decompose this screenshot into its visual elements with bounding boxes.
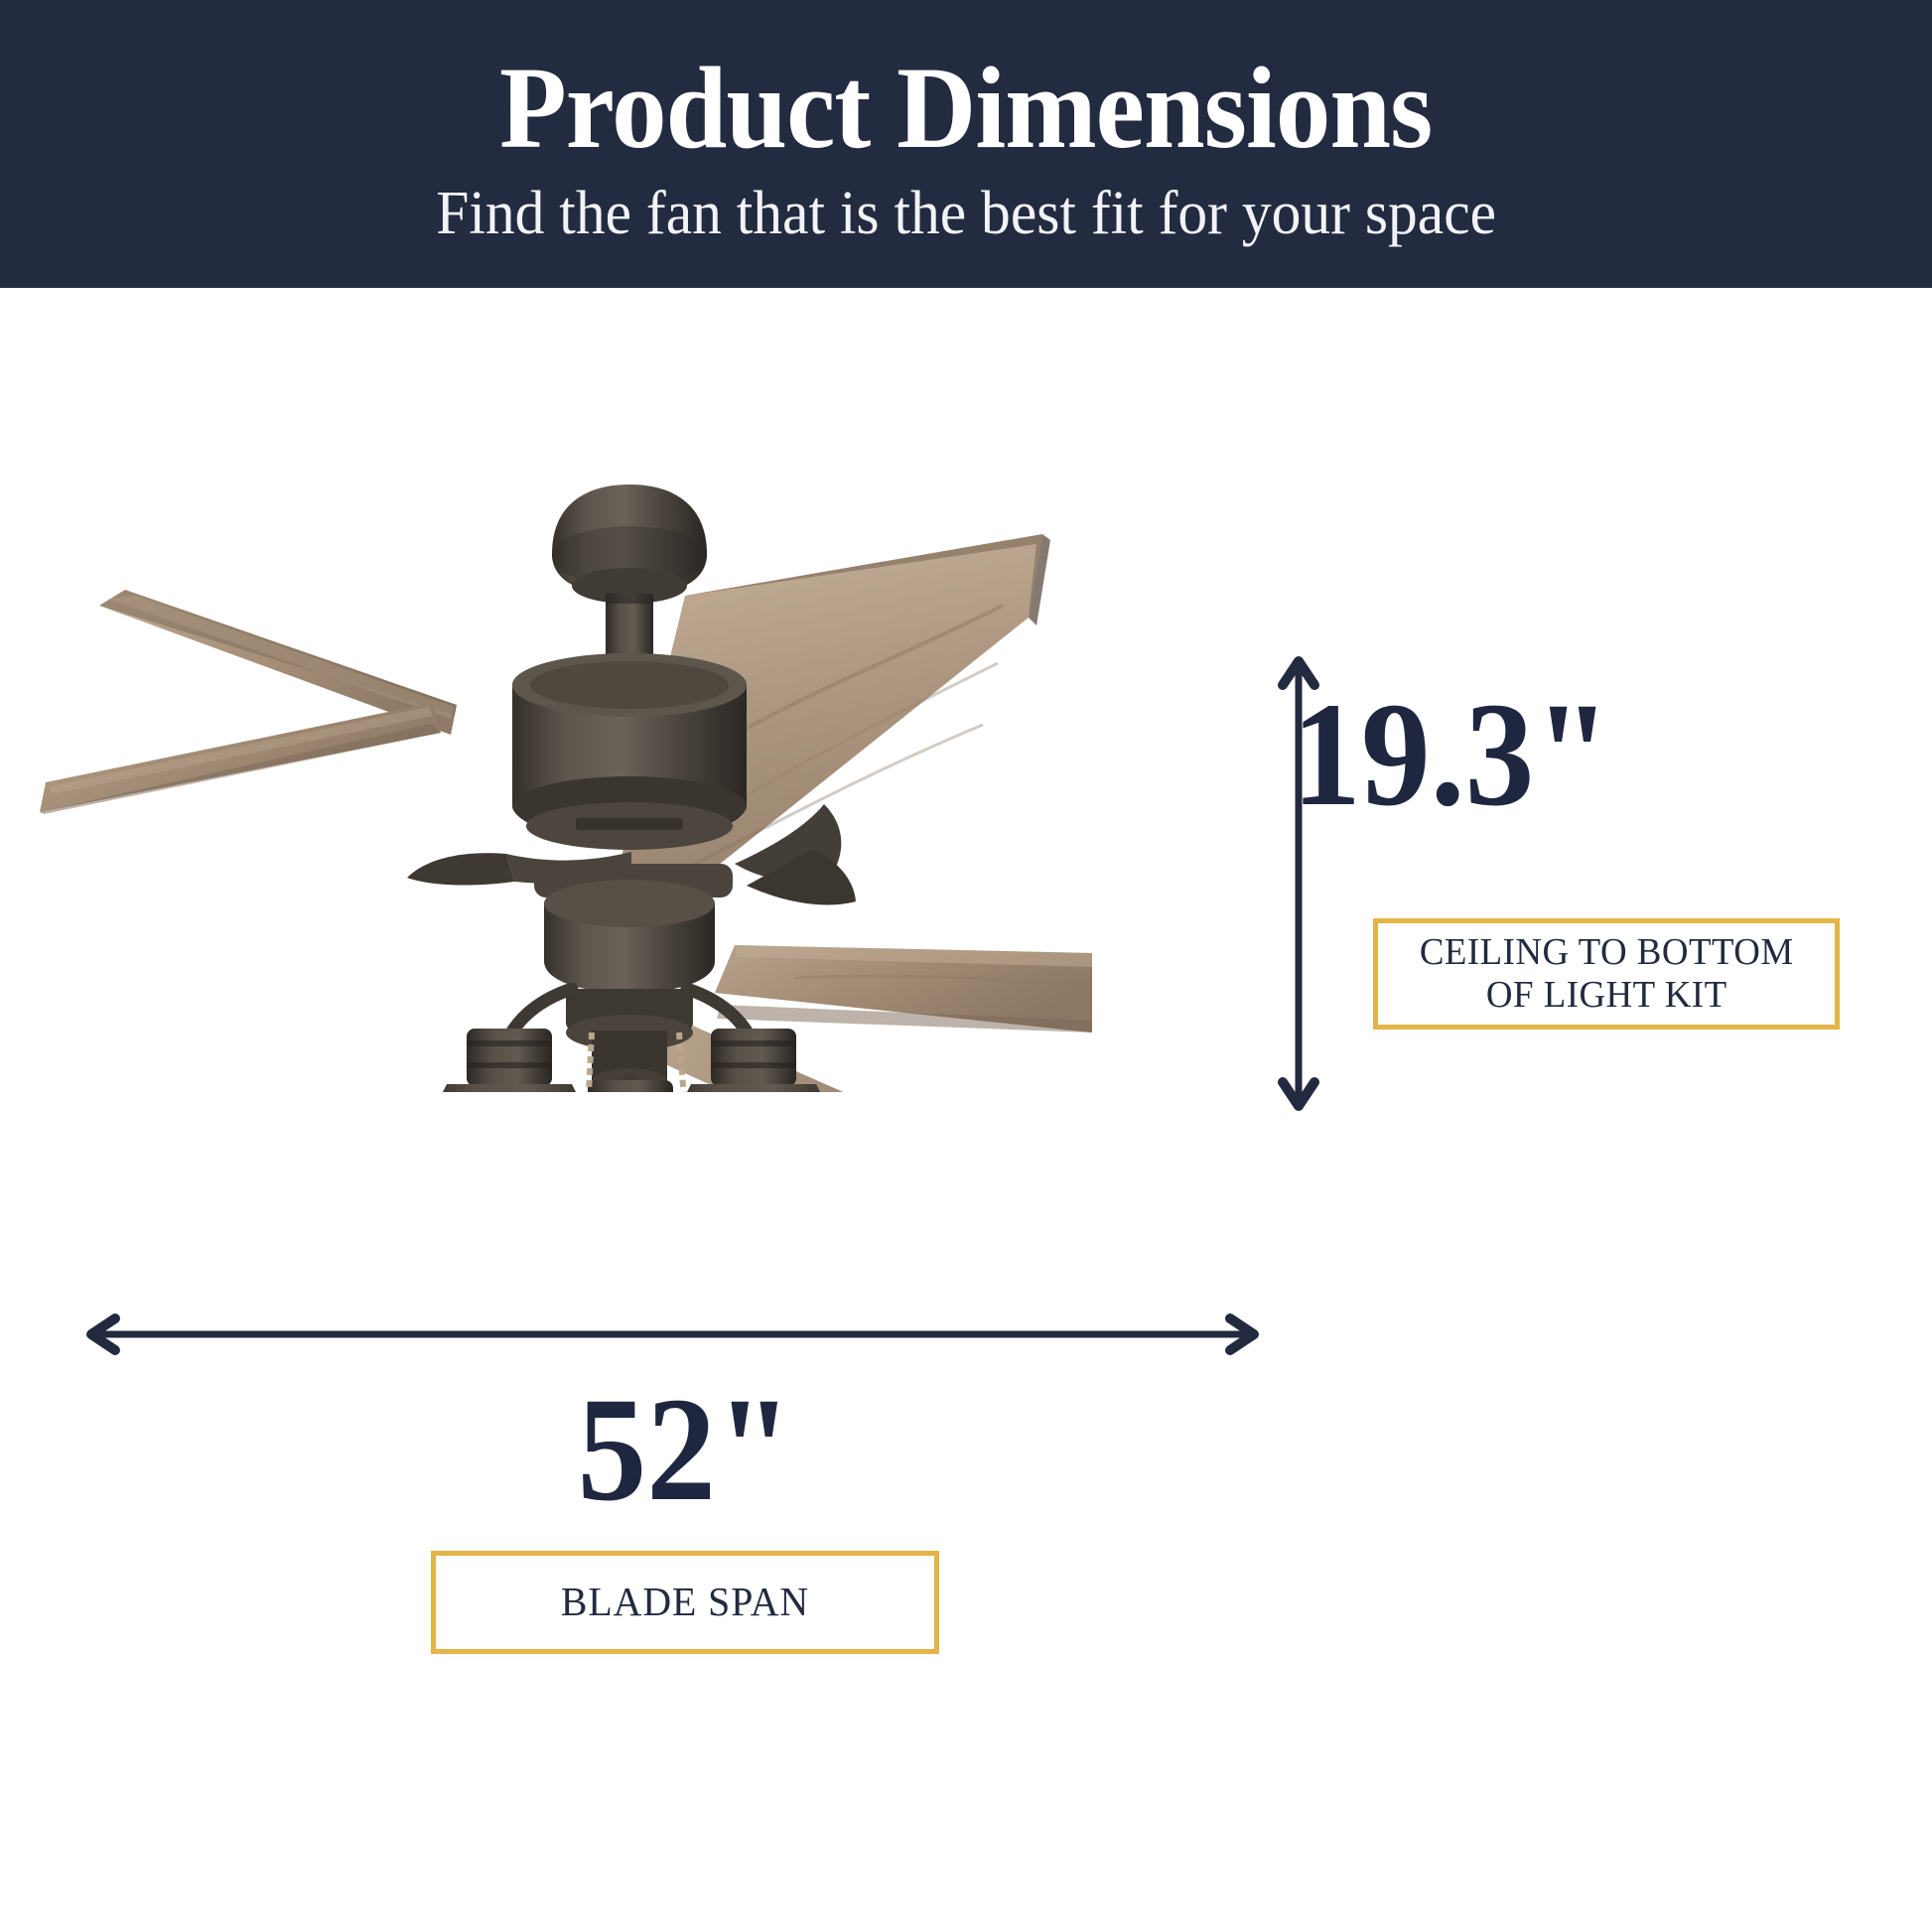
height-caption-box: CEILING TO BOTTOM OF LIGHT KIT xyxy=(1373,918,1840,1030)
width-dimension-value: 52" xyxy=(578,1375,793,1524)
width-measure-arrow xyxy=(79,1311,1266,1358)
infographic-canvas: Product Dimensions Find the fan that is … xyxy=(0,0,1932,1932)
fan-motor-housing xyxy=(512,653,747,850)
ceiling-fan-illustration xyxy=(40,437,1092,1092)
height-caption-line1: CEILING TO BOTTOM xyxy=(1420,931,1794,973)
height-caption-text: CEILING TO BOTTOM OF LIGHT KIT xyxy=(1420,931,1794,1016)
page-subtitle: Find the fan that is the best fit for yo… xyxy=(436,183,1496,244)
horizontal-double-arrow-icon xyxy=(79,1311,1266,1358)
width-caption-text: BLADE SPAN xyxy=(561,1580,809,1625)
height-dimension-value: 19.3" xyxy=(1292,680,1611,829)
header-banner: Product Dimensions Find the fan that is … xyxy=(0,0,1932,288)
fan-blade-right xyxy=(715,945,1092,1033)
page-title: Product Dimensions xyxy=(499,50,1432,167)
fan-blade-lower-left xyxy=(40,703,441,814)
ceiling-fan-graphic xyxy=(40,437,1092,1092)
height-caption-line2: OF LIGHT KIT xyxy=(1486,974,1727,1016)
width-caption-box: BLADE SPAN xyxy=(431,1551,939,1654)
